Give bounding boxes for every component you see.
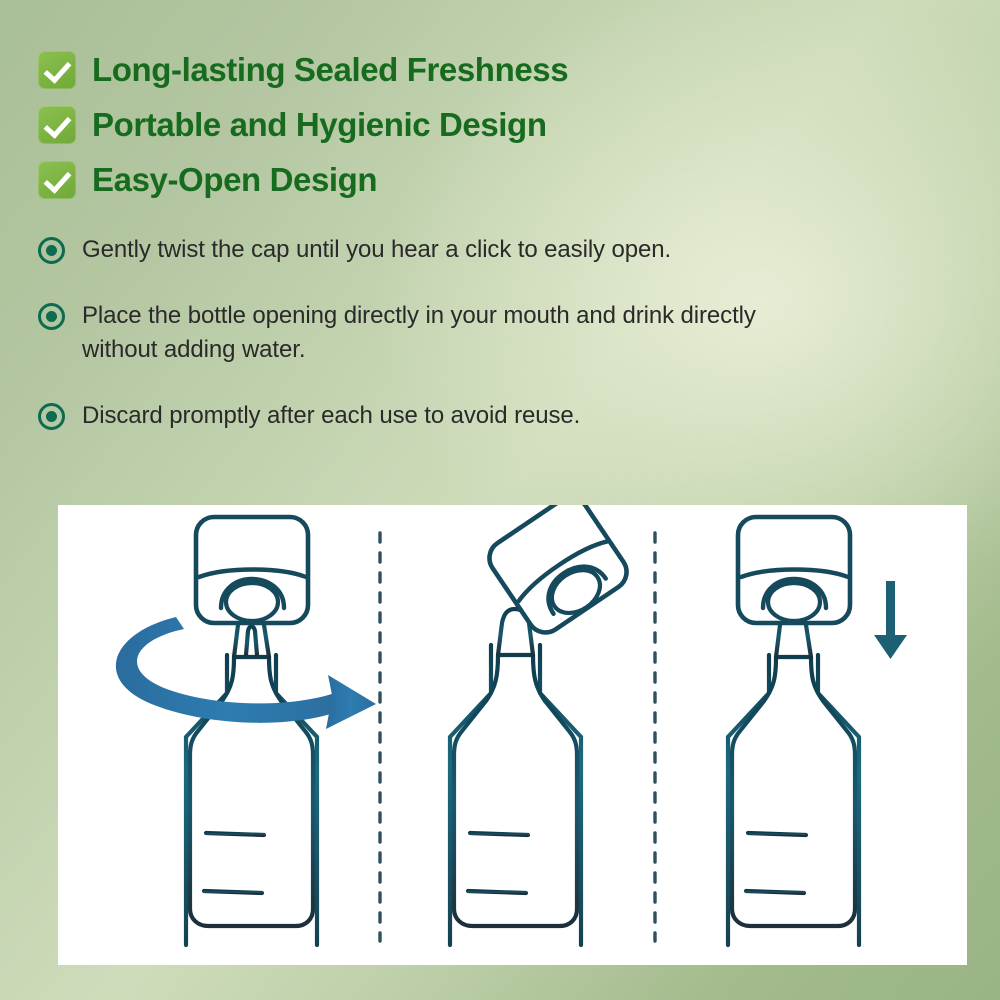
feature-item: Portable and Hygienic Design (38, 97, 738, 152)
radio-dot-icon (38, 403, 65, 430)
instruction-text: Discard promptly after each use to avoid… (82, 399, 580, 433)
instruction-item: Discard promptly after each use to avoid… (38, 399, 828, 433)
check-icon (38, 106, 76, 144)
infographic-page: Long-lasting Sealed Freshness Portable a… (0, 0, 1000, 1000)
bottle-outer-lines (728, 655, 859, 945)
down-arrow-icon (874, 581, 907, 659)
bottle-cap (196, 517, 308, 623)
instruction-item: Gently twist the cap until you hear a cl… (38, 233, 828, 267)
bottle-outer-lines (186, 655, 317, 945)
bottle-body (190, 657, 313, 926)
check-icon (38, 51, 76, 89)
radio-dot-icon (38, 303, 65, 330)
feature-label: Long-lasting Sealed Freshness (92, 51, 568, 89)
feature-label: Portable and Hygienic Design (92, 106, 547, 144)
remove-cap-step (450, 505, 634, 945)
feature-list: Long-lasting Sealed Freshness Portable a… (38, 42, 738, 207)
feature-item: Long-lasting Sealed Freshness (38, 42, 738, 97)
instruction-text: Place the bottle opening directly in you… (82, 299, 828, 367)
bottle-body (732, 657, 855, 926)
instruction-item: Place the bottle opening directly in you… (38, 299, 828, 367)
bottle-body (454, 655, 577, 926)
twist-cap-step (116, 517, 376, 945)
bottle-outer-lines (450, 645, 581, 945)
press-cap-step (728, 517, 907, 945)
instruction-text: Gently twist the cap until you hear a cl… (82, 233, 671, 267)
radio-dot-icon (38, 237, 65, 264)
instruction-list: Gently twist the cap until you hear a cl… (38, 233, 828, 465)
illustration-panel (58, 505, 967, 965)
usage-steps-illustration (58, 505, 967, 965)
tilted-cap-icon (482, 505, 633, 639)
feature-label: Easy-Open Design (92, 161, 377, 199)
bottle-cap (738, 517, 850, 623)
feature-item: Easy-Open Design (38, 152, 738, 207)
check-icon (38, 161, 76, 199)
